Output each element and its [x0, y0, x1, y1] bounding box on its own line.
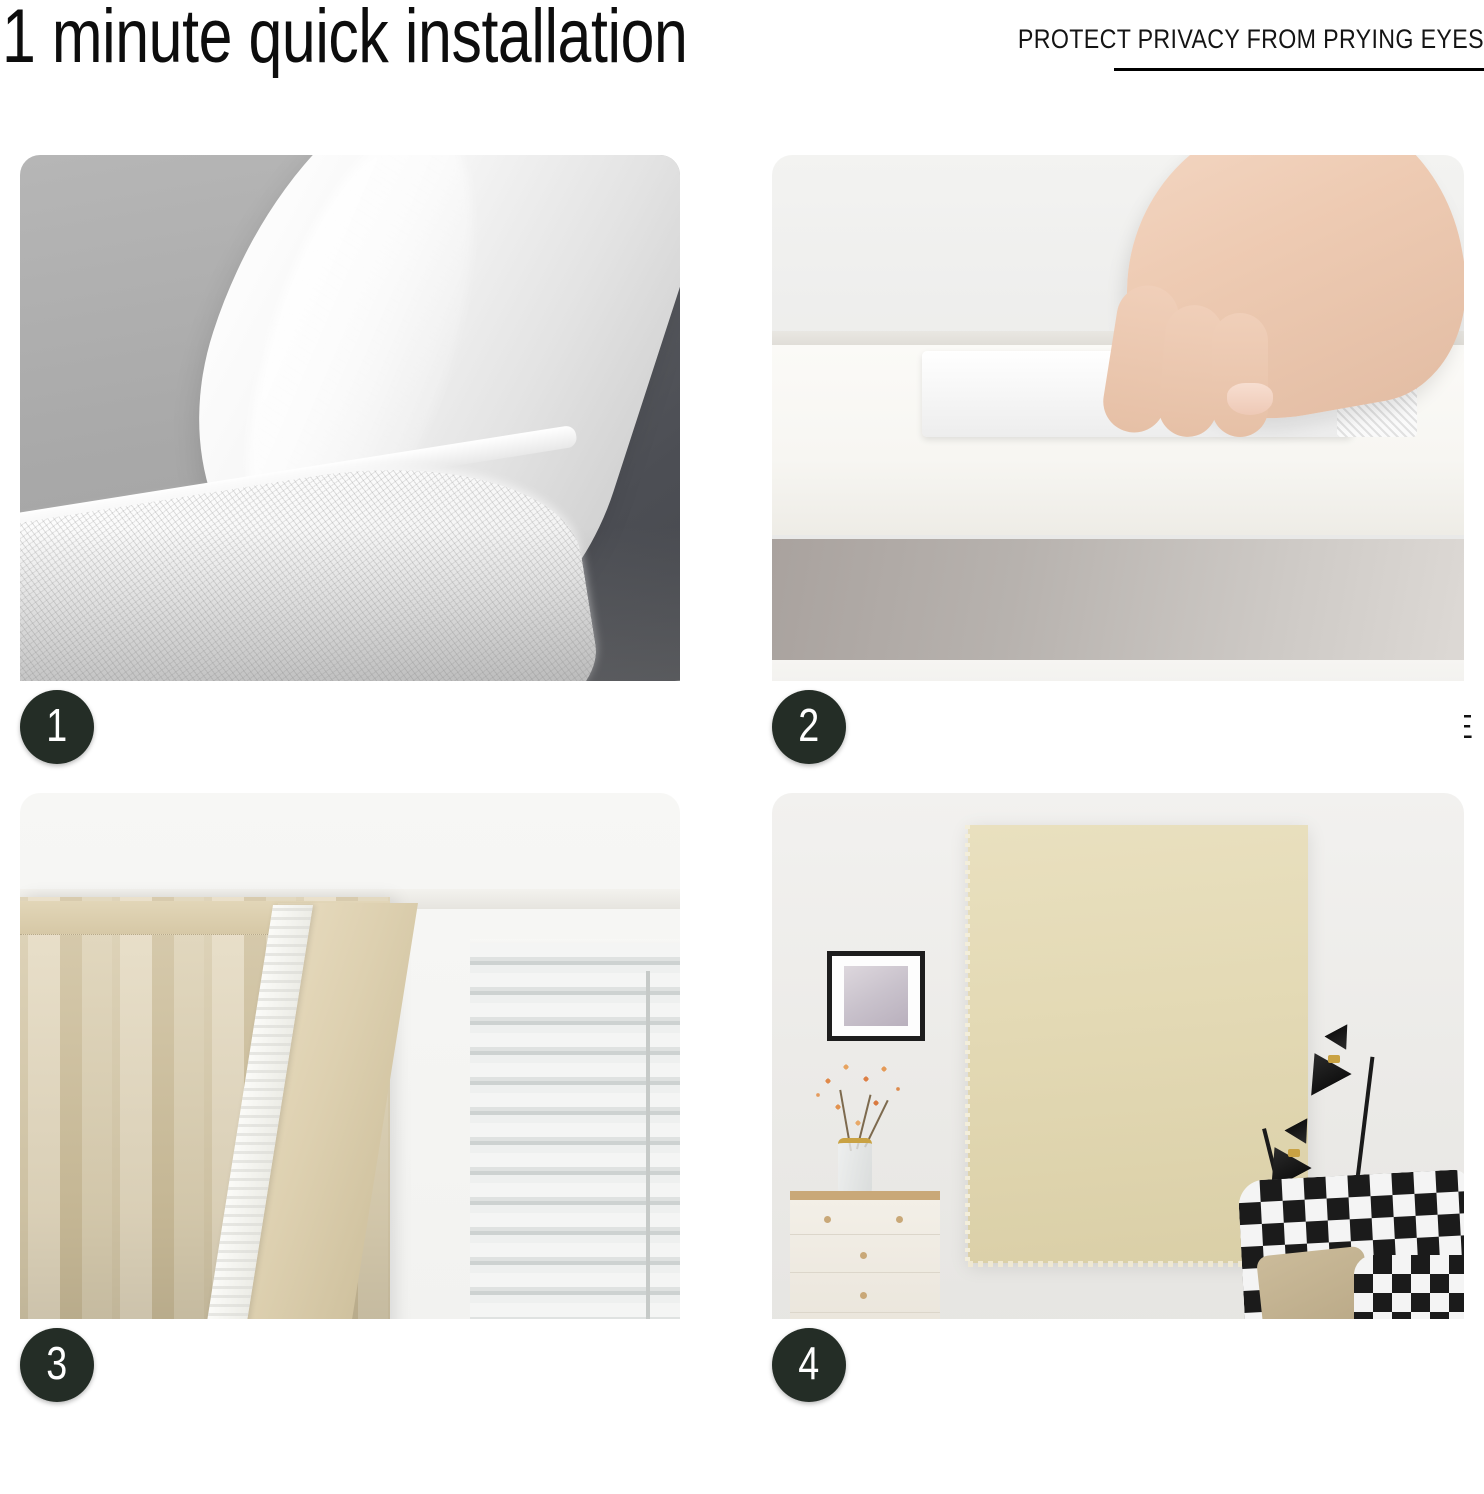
- step-card-2: 2 PASTE ON THE CLEANED WINDOW FRAME: [772, 155, 1464, 793]
- step-number-4: 4: [799, 1340, 820, 1386]
- gray-wall-band: [772, 539, 1464, 667]
- dresser-knob-2: [896, 1216, 903, 1223]
- header: 1 minute quick installation PROTECT PRIV…: [0, 0, 1484, 150]
- caption-backdrop-4: [772, 1319, 1464, 1431]
- step-number-badge-2: 2: [772, 690, 846, 764]
- caption-backdrop-1: [20, 681, 680, 793]
- step-4-photo: [772, 793, 1464, 1345]
- dried-flower-branches: [810, 1055, 906, 1147]
- dresser-knob-1: [824, 1216, 831, 1223]
- dresser-knob-3: [860, 1252, 867, 1259]
- step-2-photo: [772, 155, 1464, 707]
- step-number-3: 3: [47, 1340, 68, 1386]
- dresser-knob-4: [860, 1292, 867, 1299]
- tagline-text: PROTECT PRIVACY FROM PRYING EYES: [1018, 24, 1484, 54]
- steps-grid: 1 TEAR OPEN PASTE TYPE: [0, 150, 1484, 1494]
- thumb-nail: [1227, 383, 1273, 415]
- tagline-underline: [1114, 68, 1484, 71]
- caption-backdrop-3: [20, 1319, 680, 1431]
- step-3-photo: [20, 793, 680, 1345]
- page-title: 1 minute quick installation: [2, 0, 687, 80]
- step-number-badge-1: 1: [20, 690, 94, 764]
- lamp-brass-ring-2: [1288, 1149, 1300, 1157]
- step-card-1: 1 TEAR OPEN PASTE TYPE: [20, 155, 680, 793]
- tagline-block: PROTECT PRIVACY FROM PRYING EYES: [942, 24, 1484, 71]
- step-1-photo: [20, 155, 680, 707]
- step-number-2: 2: [799, 702, 820, 748]
- finger-3: [1212, 313, 1268, 437]
- step-card-3: 3 STICK UP THE CURTAINS: [20, 793, 680, 1431]
- infographic-page: 1 minute quick installation PROTECT PRIV…: [0, 0, 1484, 1494]
- blinds-tilt-rod: [646, 971, 650, 1341]
- caption-backdrop-2: [772, 681, 1464, 793]
- step-card-4: 4 COMPLETE INSTALLATION: [772, 793, 1464, 1431]
- step-number-badge-4: 4: [772, 1328, 846, 1402]
- lamp-shade-upper: [1324, 1024, 1357, 1056]
- framed-wall-art: [827, 951, 925, 1041]
- step-number-1: 1: [47, 702, 68, 748]
- step-number-badge-3: 3: [20, 1328, 94, 1402]
- lamp-brass-ring-1: [1328, 1055, 1340, 1063]
